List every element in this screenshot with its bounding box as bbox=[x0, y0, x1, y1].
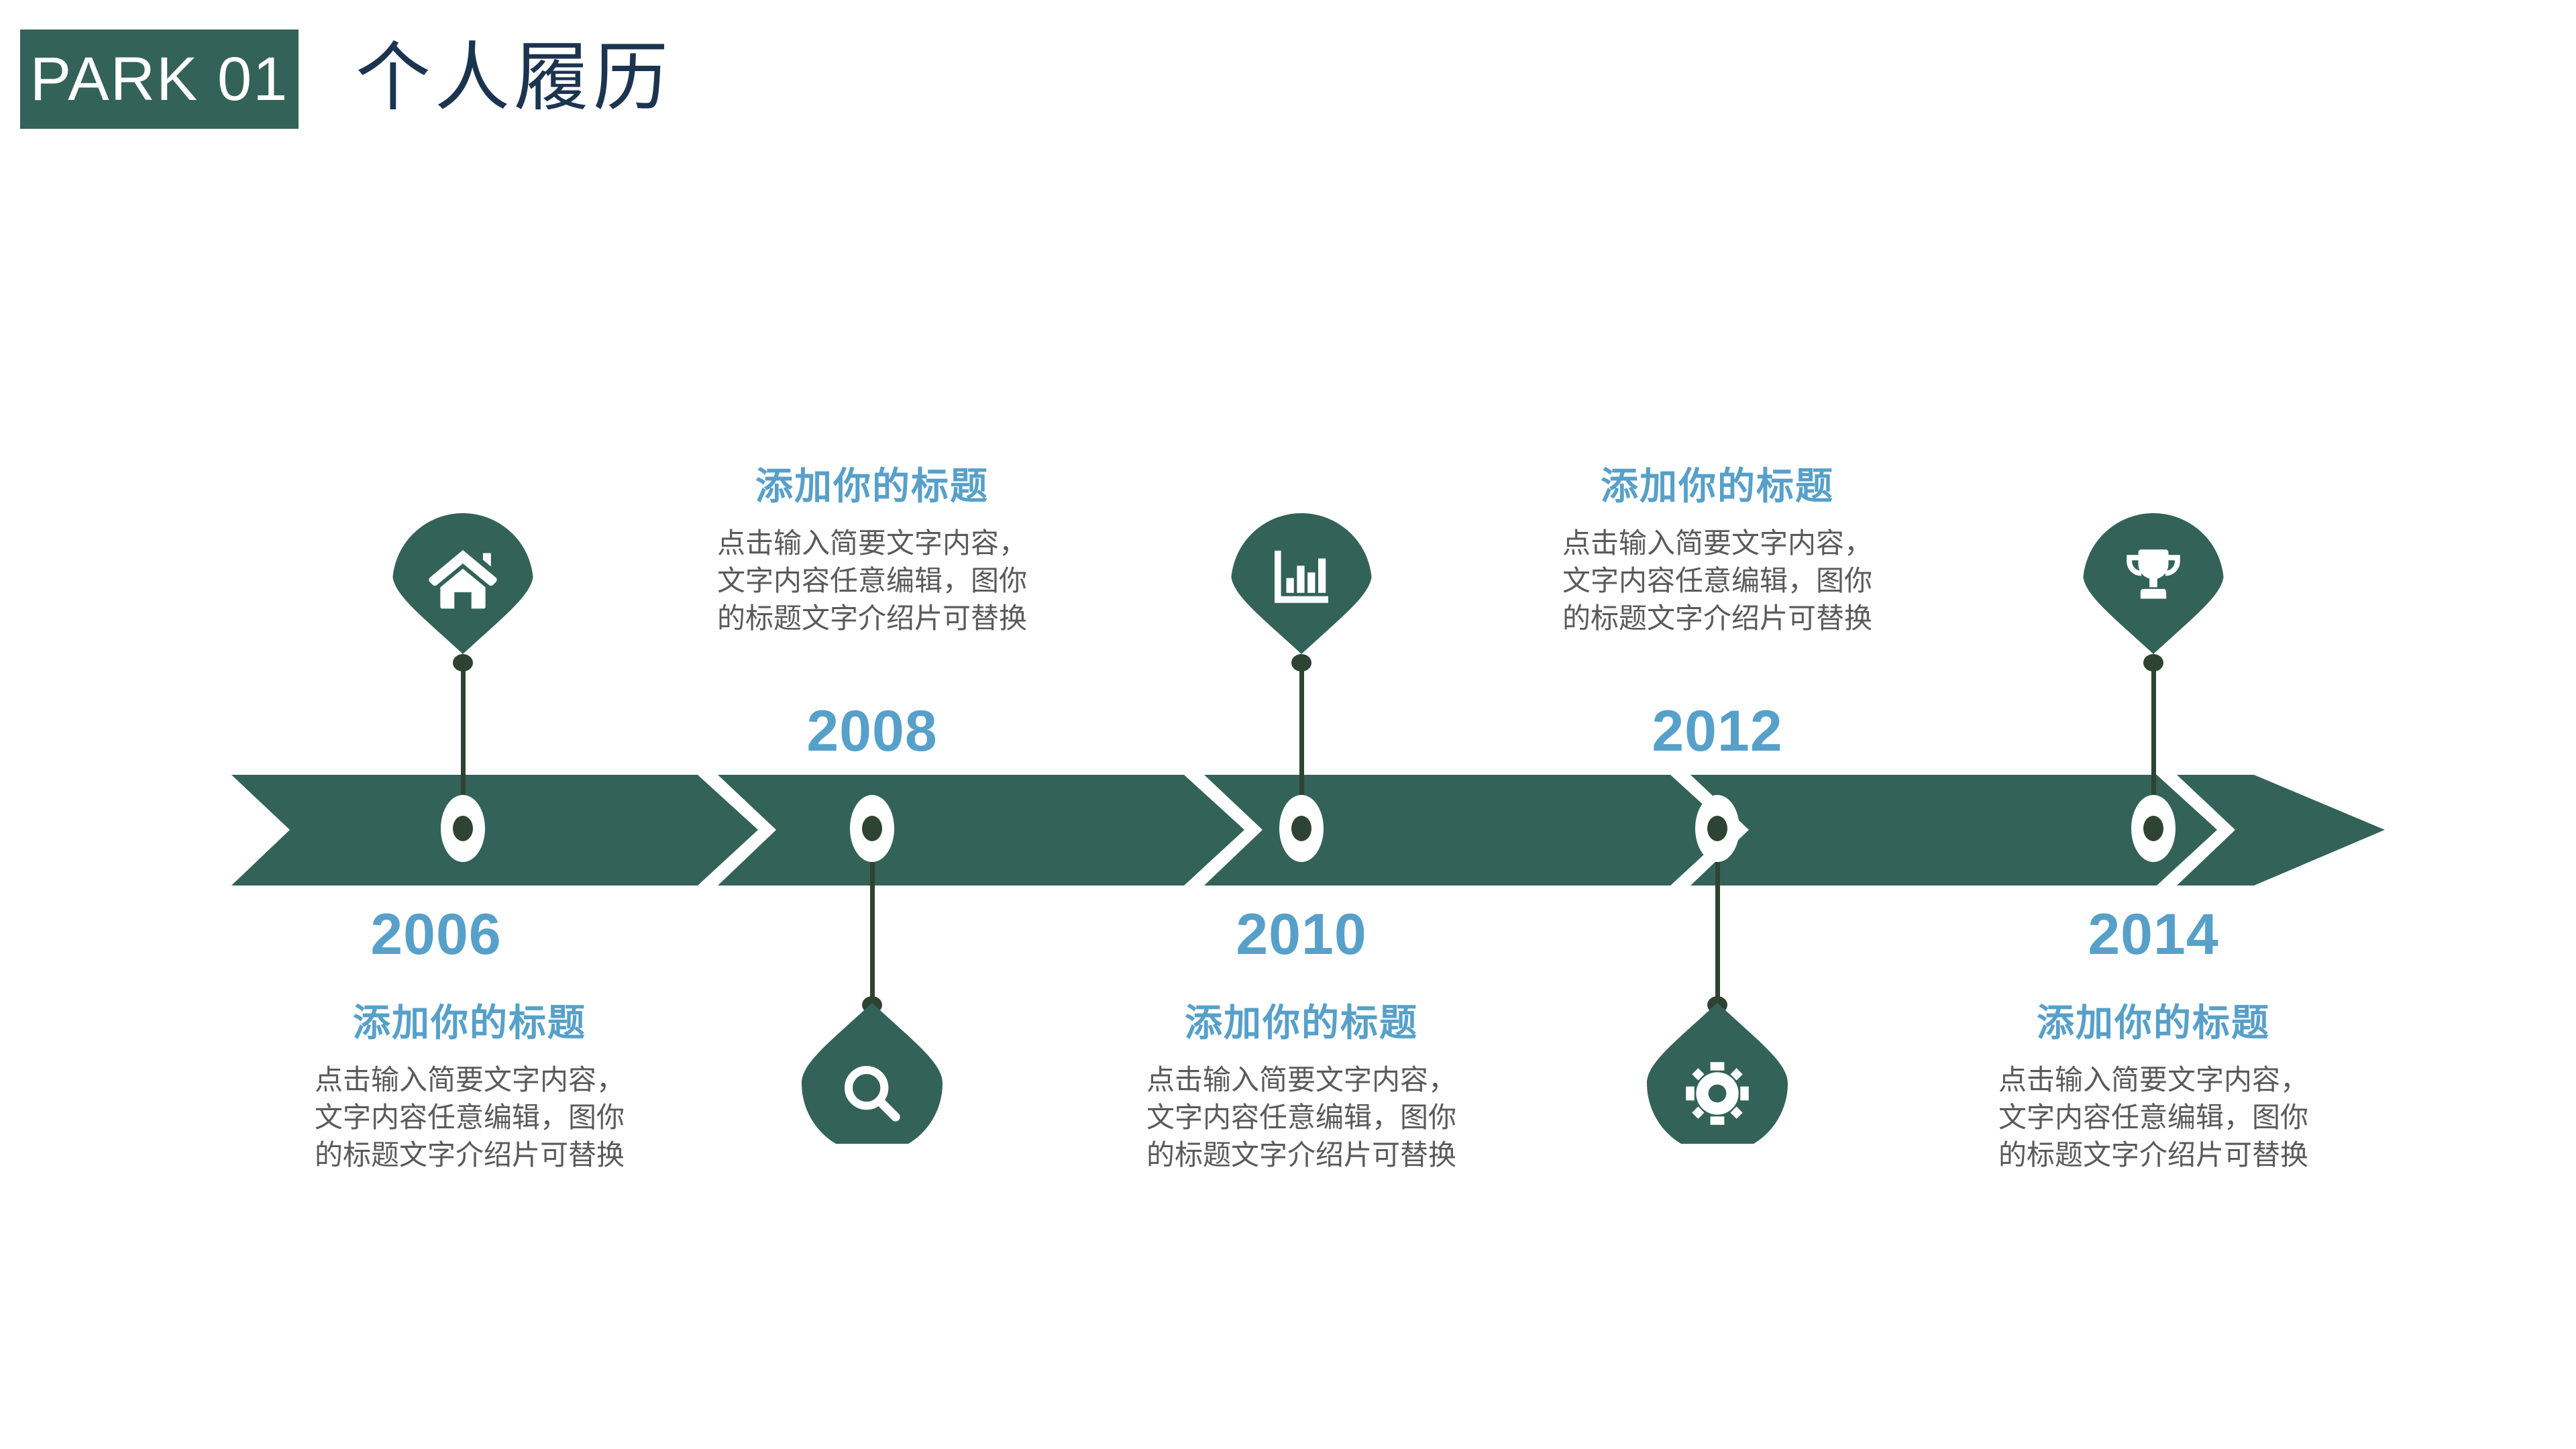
block-title: 添加你的标题 bbox=[1114, 1000, 1489, 1046]
text-block-2: 添加你的标题 点击输入简要文字内容， 文字内容任意编辑，图你 的标题文字介绍片可… bbox=[684, 463, 1060, 637]
pin-trophy[interactable] bbox=[2083, 513, 2224, 654]
text-block-4: 添加你的标题 点击输入简要文字内容， 文字内容任意编辑，图你 的标题文字介绍片可… bbox=[1529, 463, 1905, 637]
chevron-segment-1 bbox=[231, 775, 758, 885]
band-marker-5[interactable] bbox=[2131, 795, 2176, 862]
chevron-segment-2 bbox=[718, 775, 1244, 885]
block-title: 添加你的标题 bbox=[282, 1000, 657, 1046]
block-title: 添加你的标题 bbox=[1529, 463, 1905, 510]
page-title: 个人履历 bbox=[356, 24, 672, 131]
year-label-2008: 2008 bbox=[738, 699, 1006, 763]
park-badge: PARK 01 bbox=[20, 30, 299, 129]
trophy-icon bbox=[2083, 527, 2224, 627]
band-marker-dot bbox=[1291, 816, 1311, 841]
year-label-2014: 2014 bbox=[2019, 902, 2288, 967]
band-marker-3[interactable] bbox=[1279, 795, 1324, 862]
bar-chart-icon bbox=[1231, 527, 1372, 627]
band-marker-dot bbox=[2143, 816, 2163, 841]
pin-search[interactable] bbox=[802, 1003, 943, 1144]
search-icon bbox=[802, 1043, 943, 1144]
stem-knob-5 bbox=[2143, 654, 2163, 672]
band-marker-1[interactable] bbox=[441, 795, 485, 862]
pin-gear[interactable] bbox=[1647, 1003, 1788, 1144]
block-body: 点击输入简要文字内容， 文字内容任意编辑，图你 的标题文字介绍片可替换 bbox=[1529, 525, 1905, 637]
band-marker-4[interactable] bbox=[1695, 795, 1739, 862]
page-header: PARK 01 个人履历 bbox=[0, 0, 2576, 154]
stem-knob-3 bbox=[1291, 654, 1311, 672]
year-label-2006: 2006 bbox=[302, 902, 570, 967]
block-title: 添加你的标题 bbox=[1966, 1000, 2341, 1046]
text-block-3: 添加你的标题 点击输入简要文字内容， 文字内容任意编辑，图你 的标题文字介绍片可… bbox=[1114, 1000, 1489, 1174]
band-marker-dot bbox=[1707, 816, 1727, 841]
text-block-1: 添加你的标题 点击输入简要文字内容， 文字内容任意编辑，图你 的标题文字介绍片可… bbox=[282, 1000, 657, 1174]
block-body: 点击输入简要文字内容， 文字内容任意编辑，图你 的标题文字介绍片可替换 bbox=[282, 1061, 657, 1174]
pin-home[interactable] bbox=[392, 513, 533, 654]
pin-bar-chart[interactable] bbox=[1231, 513, 1372, 654]
block-body: 点击输入简要文字内容， 文字内容任意编辑，图你 的标题文字介绍片可替换 bbox=[684, 525, 1060, 637]
year-label-2010: 2010 bbox=[1167, 902, 1436, 967]
block-body: 点击输入简要文字内容， 文字内容任意编辑，图你 的标题文字介绍片可替换 bbox=[1966, 1061, 2341, 1174]
band-marker-dot bbox=[862, 816, 882, 841]
text-block-5: 添加你的标题 点击输入简要文字内容， 文字内容任意编辑，图你 的标题文字介绍片可… bbox=[1966, 1000, 2341, 1174]
home-icon bbox=[392, 527, 533, 627]
stem-knob-1 bbox=[453, 654, 473, 672]
block-title: 添加你的标题 bbox=[684, 463, 1060, 510]
band-marker-2[interactable] bbox=[850, 795, 894, 862]
block-body: 点击输入简要文字内容， 文字内容任意编辑，图你 的标题文字介绍片可替换 bbox=[1114, 1061, 1489, 1174]
band-marker-dot bbox=[453, 816, 473, 841]
year-label-2012: 2012 bbox=[1583, 699, 1851, 763]
gear-icon bbox=[1647, 1043, 1788, 1144]
